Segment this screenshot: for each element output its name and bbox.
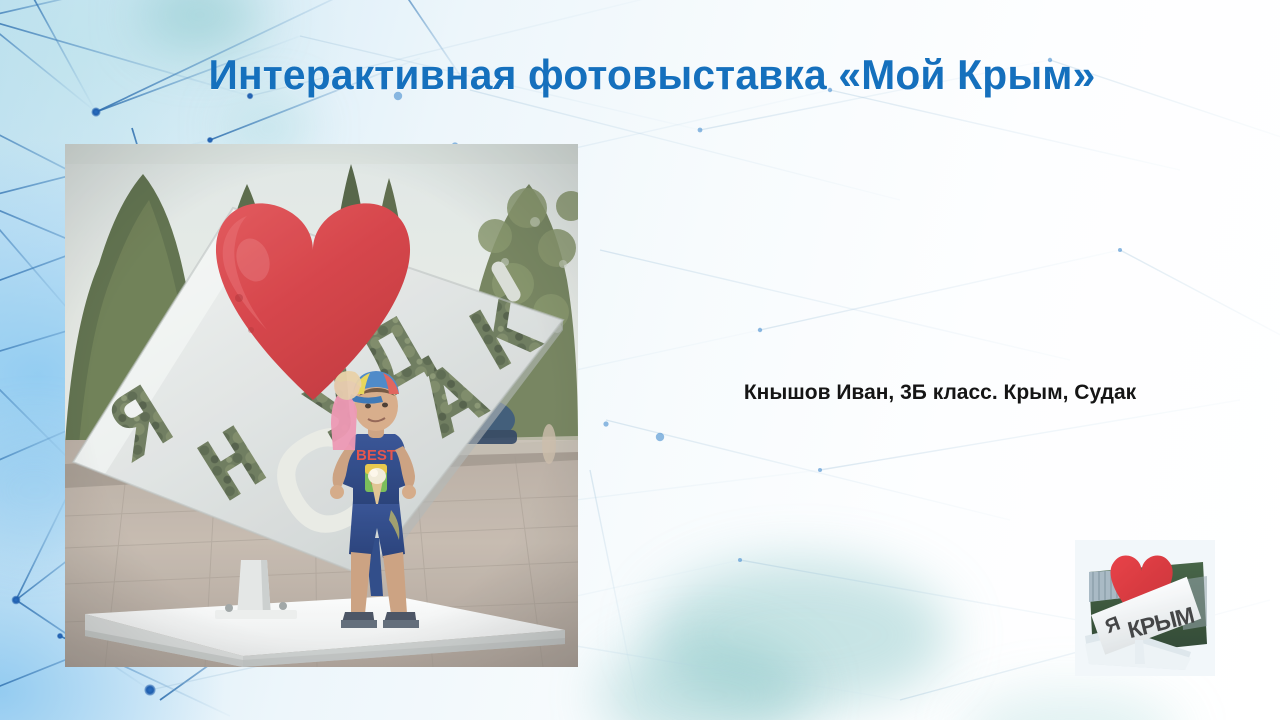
page-title: Интерактивная фотовыставка «Мой Крым» (80, 49, 1225, 101)
decor-blob-4 (600, 640, 810, 720)
decor-blob-5 (960, 690, 1180, 720)
decor-blob-1 (140, 0, 260, 52)
logo-ya-lyublyu-krym: Я КРЫМ (1075, 540, 1215, 676)
decor-blob-3 (650, 560, 950, 710)
photo-krym-sudak: BEST (65, 144, 578, 667)
photo-caption: Кнышов Иван, 3Б класс. Крым, Судак (678, 378, 1202, 408)
slide-root: BEST (0, 0, 1280, 720)
